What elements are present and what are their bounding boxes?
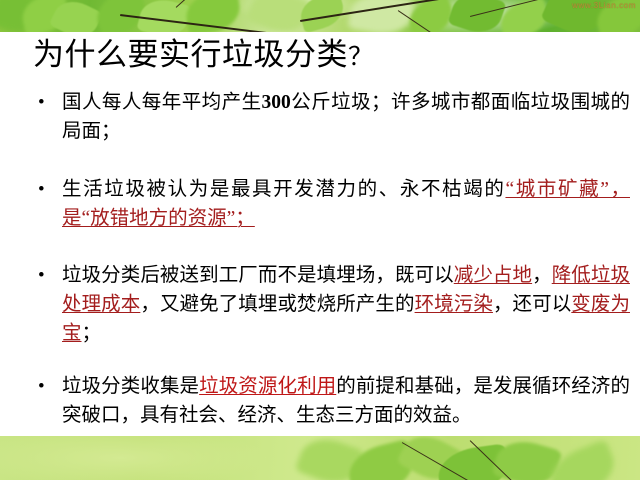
page-title-question-mark: ？: [348, 44, 374, 71]
bullet-1-seg-0: 国人每人每年平均产生: [62, 92, 262, 113]
page-title: 为什么要实行垃圾分类？: [33, 36, 374, 77]
bullet-3-highlight-3: 环境污染: [415, 294, 493, 315]
list-item: •垃圾分类收集是垃圾资源化利用的前提和基础，是发展循环经济的突破口，具有社会、经…: [0, 372, 640, 430]
bullet-4-highlight: 垃圾资源化利用: [199, 376, 336, 397]
bullet-3-seg-2: ，: [532, 265, 552, 286]
bullet-marker-icon: •: [38, 372, 45, 401]
site-watermark: www.3Lian.com: [572, 1, 636, 10]
bullet-marker-icon: •: [38, 175, 45, 204]
page-title-text: 为什么要实行垃圾分类: [33, 37, 348, 72]
bullet-4-seg-0: 垃圾分类收集是: [62, 376, 199, 397]
bullet-3-seg-6: ，还可以: [493, 294, 571, 315]
bullet-marker-icon: •: [38, 261, 45, 290]
bullet-3-seg-4: ，又避免了填埋或焚烧所产生的: [140, 294, 414, 315]
bullet-2-seg-0: 生活垃圾被认为是最具开发潜力的、永不枯竭的: [62, 179, 505, 200]
bullet-3-seg-8: ；: [82, 323, 102, 344]
bullet-3-highlight-1: 减少占地: [454, 265, 532, 286]
bullet-1-seg-1: 300: [262, 92, 291, 113]
list-item: •垃圾分类后被送到工厂而不是填埋场，既可以减少占地，降低垃圾处理成本，又避免了填…: [0, 261, 640, 348]
bullet-marker-icon: •: [38, 88, 45, 117]
leaf-decoration: [447, 0, 506, 32]
list-item: •国人每人每年平均产生300公斤垃圾；许多城市都面临垃圾围城的局面；: [0, 88, 640, 146]
top-leaf-banner: www.3Lian.com: [0, 0, 640, 32]
list-item: •生活垃圾被认为是最具开发潜力的、永不枯竭的“城市矿藏”，是“放错地方的资源”；: [0, 175, 640, 233]
leaf-decoration: [136, 0, 191, 32]
bullet-3-seg-0: 垃圾分类后被送到工厂而不是填埋场，既可以: [62, 265, 454, 286]
presentation-slide: www.3Lian.com 为什么要实行垃圾分类？ •国人每人每年平均产生300…: [0, 0, 640, 480]
bottom-leaf-banner: [0, 436, 640, 480]
bullet-list: •国人每人每年平均产生300公斤垃圾；许多城市都面临垃圾围城的局面； •生活垃圾…: [0, 88, 640, 430]
